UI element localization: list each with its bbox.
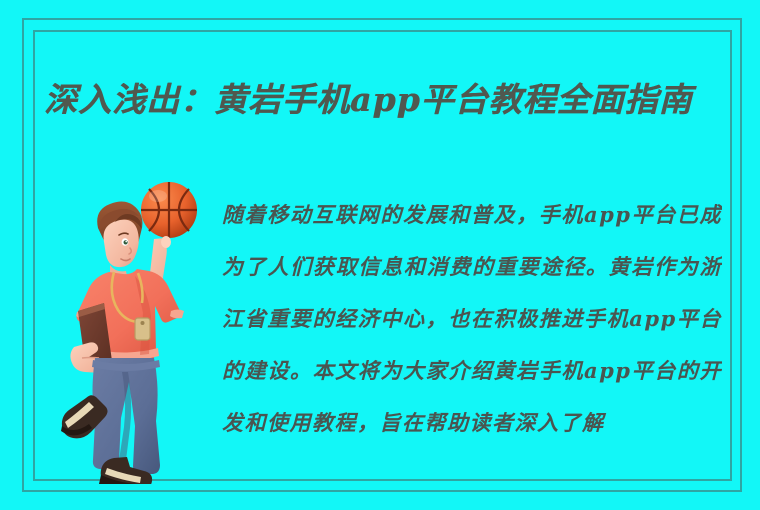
- basketball-icon: [141, 182, 197, 238]
- page-title: 深入浅出：黄岩手机app平台教程全面指南: [44, 74, 756, 126]
- poster-canvas: 深入浅出：黄岩手机app平台教程全面指南: [0, 0, 760, 510]
- hero-illustration: [52, 172, 222, 484]
- article-body: 随着移动互联网的发展和普及，手机app平台已成为了人们获取信息和消费的重要途径。…: [222, 189, 722, 505]
